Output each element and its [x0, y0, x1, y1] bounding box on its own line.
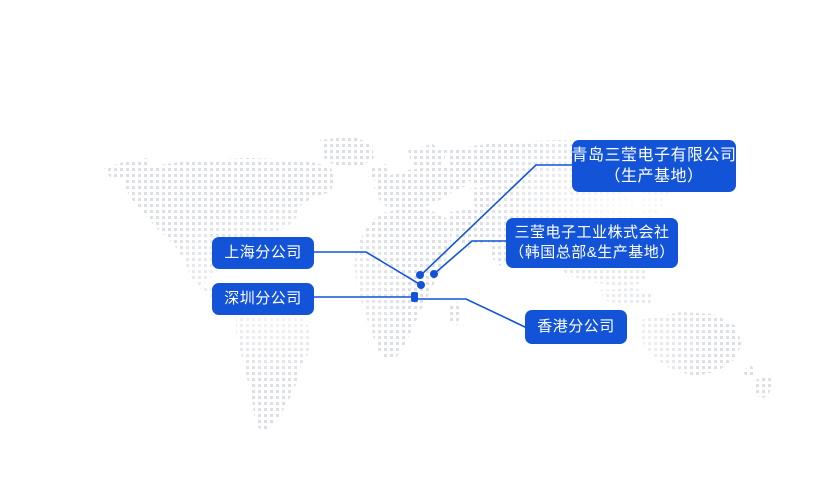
label-shenzhen-text: 深圳分公司	[224, 289, 302, 309]
label-korea[interactable]: 三莹电子工业株式会社 （韩国总部&生产基地）	[506, 218, 678, 268]
label-shanghai-text: 上海分公司	[224, 243, 302, 263]
marker-shanghai[interactable]	[417, 281, 425, 289]
label-qingdao[interactable]: 青岛三莹电子有限公司 （生产基地）	[572, 140, 736, 192]
label-qingdao-line1: 青岛三莹电子有限公司	[572, 145, 737, 166]
label-hongkong-text: 香港分公司	[537, 317, 615, 337]
label-korea-line1: 三莹电子工业株式会社	[515, 223, 670, 243]
marker-korea[interactable]	[430, 270, 438, 278]
label-shanghai[interactable]: 上海分公司	[212, 237, 314, 269]
marker-shenzhen-hongkong[interactable]	[411, 292, 418, 302]
label-hongkong[interactable]: 香港分公司	[525, 310, 627, 344]
label-korea-line2: （韩国总部&生产基地）	[509, 243, 675, 263]
label-qingdao-line2: （生产基地）	[604, 166, 703, 187]
marker-qingdao[interactable]	[416, 271, 424, 279]
dotted-world-map	[0, 0, 824, 480]
label-shenzhen[interactable]: 深圳分公司	[212, 283, 314, 315]
world-map-infographic: 青岛三莹电子有限公司 （生产基地） 三莹电子工业株式会社 （韩国总部&生产基地）…	[0, 0, 824, 480]
